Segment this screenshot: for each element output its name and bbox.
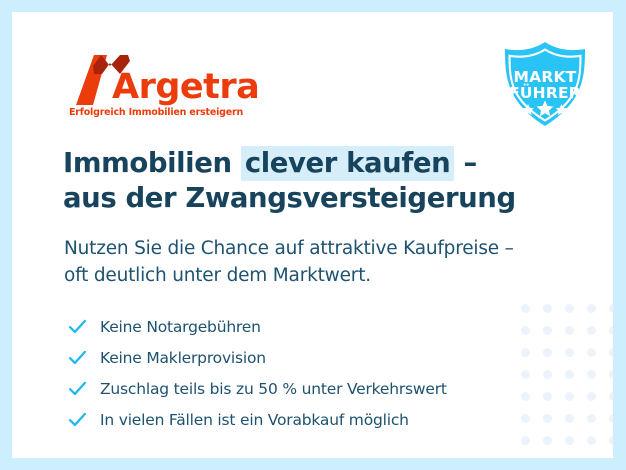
benefit-label: Keine Notargebühren [100,318,261,336]
headline-text-before: Immobilien [63,147,241,179]
benefit-label: In vielen Fällen ist ein Vorabkauf mögli… [100,411,409,429]
dot-grid-dot [543,304,552,313]
dot-grid-dot [587,348,596,357]
benefit-item: In vielen Fällen ist ein Vorabkauf mögli… [67,404,537,435]
benefit-item: Keine Maklerprovision [67,342,537,373]
banner-card: Argetra Erfolgreich Immobilien ersteiger… [12,12,613,458]
dot-grid-dot [565,370,574,379]
benefit-item: Zuschlag teils bis zu 50 % unter Verkehr… [67,373,537,404]
dot-grid-dot [609,414,613,423]
headline-text-after: – [454,147,477,179]
dot-grid-dot [587,370,596,379]
benefit-label: Keine Maklerprovision [100,349,266,367]
benefit-item: Keine Notargebühren [67,311,537,342]
dot-grid-dot [609,436,613,445]
dot-grid-row [521,436,613,445]
dot-grid-dot [565,348,574,357]
headline-highlight: clever kaufen [241,146,455,181]
badge-line2: FÜHRER [509,83,581,102]
argetra-logo[interactable]: Argetra Erfolgreich Immobilien ersteiger… [68,54,248,122]
headline-line-2: aus der Zwangsversteigerung [63,181,533,216]
subheadline-line-2: oft deutlich unter dem Marktwert. [64,263,544,290]
dot-grid-dot [565,414,574,423]
logo-wordmark: Argetra [112,70,259,105]
dot-grid-dot [565,392,574,401]
check-icon [67,347,88,368]
promo-banner: Argetra Erfolgreich Immobilien ersteiger… [0,0,626,470]
headline-line-1: Immobilien clever kaufen – [63,146,533,181]
dot-grid-dot [609,304,613,313]
market-leader-badge: MARKT FÜHRER [499,38,591,130]
page-title: Immobilien clever kaufen – aus der Zwang… [63,146,533,216]
shield-badge-icon: MARKT FÜHRER [499,38,591,130]
check-icon [67,409,88,430]
benefit-label: Zuschlag teils bis zu 50 % unter Verkehr… [100,380,447,398]
dot-grid-dot [609,392,613,401]
dot-grid-dot [565,304,574,313]
check-icon [67,316,88,337]
dot-grid-dot [609,326,613,335]
check-icon [67,378,88,399]
dot-grid-dot [543,348,552,357]
logo-tagline: Erfolgreich Immobilien ersteigern [69,107,243,118]
subheadline-line-1: Nutzen Sie die Chance auf attraktive Kau… [64,236,544,263]
dot-grid-dot [565,326,574,335]
dot-grid-dot [543,370,552,379]
dot-grid-dot [543,326,552,335]
dot-grid-dot [587,392,596,401]
dot-grid-dot [587,414,596,423]
dot-grid-dot [609,348,613,357]
benefits-list: Keine NotargebührenKeine Maklerprovision… [67,311,537,435]
subheadline: Nutzen Sie die Chance auf attraktive Kau… [64,236,544,290]
dot-grid-dot [587,326,596,335]
dot-grid-dot [543,436,552,445]
dot-grid-dot [587,436,596,445]
dot-grid-dot [543,392,552,401]
dot-grid-dot [521,436,530,445]
dot-grid-dot [587,304,596,313]
dot-grid-dot [565,436,574,445]
dot-grid-dot [609,370,613,379]
dot-grid-dot [543,414,552,423]
